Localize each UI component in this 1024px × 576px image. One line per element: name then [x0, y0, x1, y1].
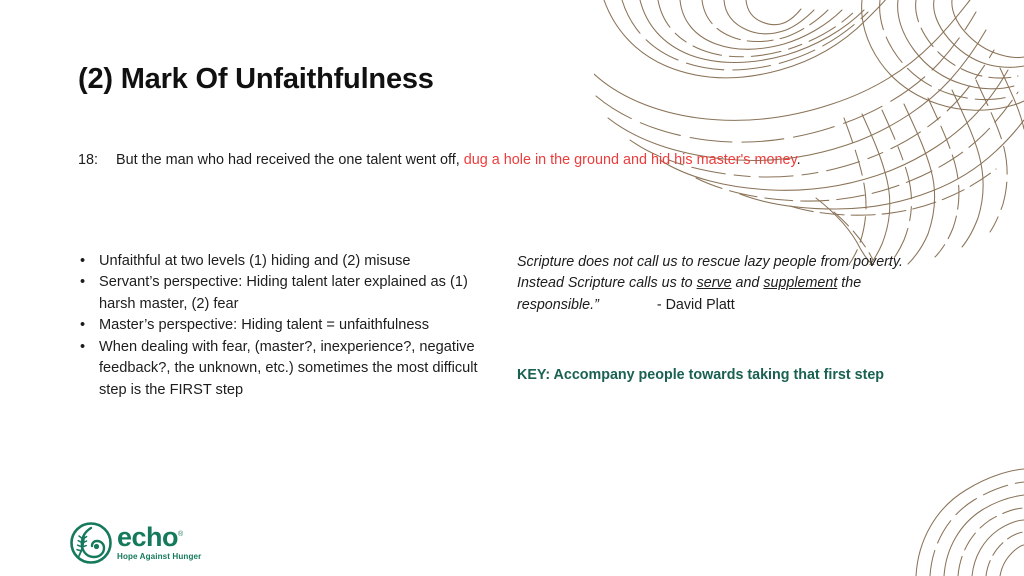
- echo-wordmark-text: echo: [117, 522, 178, 552]
- quote-underline-serve: serve: [697, 275, 732, 291]
- scripture-verse: 18: But the man who had received the one…: [78, 150, 838, 171]
- verse-text-highlight: dug a hole in the ground and hid his mas…: [460, 152, 797, 168]
- quote-underline-supplement: supplement: [763, 275, 837, 291]
- verse-text-plain: But the man who had received the one tal…: [116, 152, 460, 168]
- list-item-label: Master’s perspective: Hiding talent = un…: [99, 317, 429, 333]
- bullet-dot-icon: •: [80, 315, 85, 336]
- list-item-label: Servant’s perspective: Hiding talent lat…: [99, 274, 468, 311]
- bullet-dot-icon: •: [80, 272, 85, 293]
- bullet-dot-icon: •: [80, 251, 85, 272]
- list-item: • When dealing with fear, (master?, inex…: [78, 337, 506, 401]
- verse-body: But the man who had received the one tal…: [116, 150, 838, 171]
- list-item: • Unfaithful at two levels (1) hiding an…: [78, 251, 506, 272]
- slide-canvas: (2) Mark Of Unfaithfulness 18: But the m…: [0, 0, 1024, 576]
- quote-part-2: and: [732, 275, 764, 291]
- list-item: • Master’s perspective: Hiding talent = …: [78, 315, 506, 336]
- key-takeaway: KEY: Accompany people towards taking tha…: [517, 365, 929, 385]
- trademark-symbol: ®: [178, 531, 183, 538]
- list-item: • Servant’s perspective: Hiding talent l…: [78, 272, 506, 315]
- quote-text: Scripture does not call us to rescue laz…: [517, 252, 929, 316]
- list-item-label: When dealing with fear, (master?, inexpe…: [99, 339, 478, 398]
- page-title: (2) Mark Of Unfaithfulness: [78, 62, 434, 97]
- echo-emblem-icon: [70, 522, 112, 564]
- echo-wordmark-block: echo® Hope Against Hunger: [117, 525, 201, 562]
- topographic-contour-pattern: [594, 0, 1024, 265]
- list-item-label: Unfaithful at two levels (1) hiding and …: [99, 253, 410, 269]
- verse-text-end: .: [797, 152, 801, 168]
- quote-attribution: - David Platt: [657, 295, 735, 316]
- echo-wordmark: echo®: [117, 525, 201, 551]
- bullet-list: • Unfaithful at two levels (1) hiding an…: [78, 251, 506, 401]
- verse-number: 18:: [78, 150, 112, 171]
- echo-tagline: Hope Against Hunger: [117, 552, 201, 561]
- echo-logo: echo® Hope Against Hunger: [70, 521, 201, 565]
- bullet-dot-icon: •: [80, 337, 85, 358]
- corner-arc-pattern: [914, 464, 1024, 576]
